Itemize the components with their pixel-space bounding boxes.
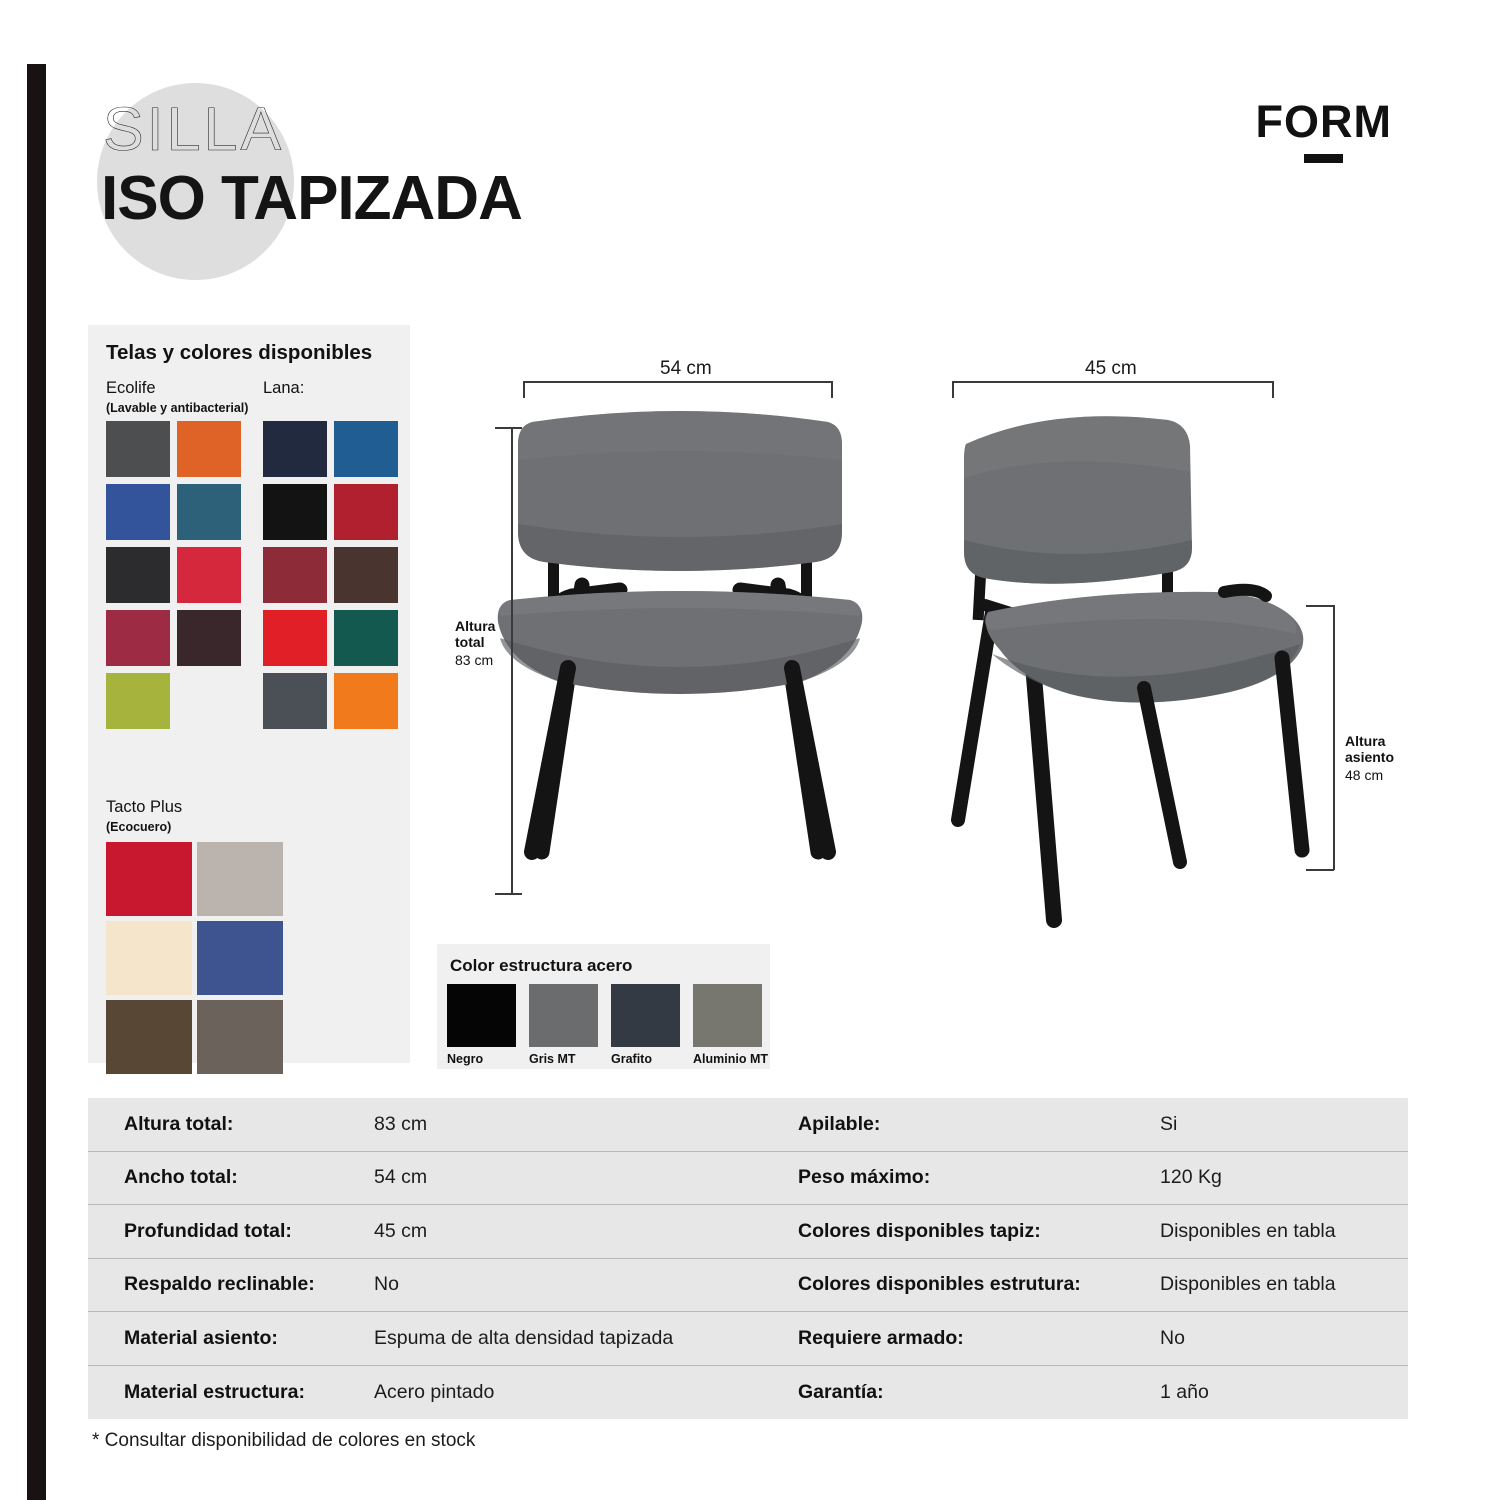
dimension-total-height-label-1: Altura bbox=[455, 618, 495, 635]
fabric-swatch bbox=[106, 547, 170, 603]
spec-cell-left: Material asiento:Espuma de alta densidad… bbox=[124, 1327, 784, 1350]
steel-color-label: Negro bbox=[447, 1052, 516, 1066]
brand-logo-underline bbox=[1304, 154, 1343, 163]
fabric-swatch bbox=[106, 842, 192, 916]
spec-key: Colores disponibles tapiz: bbox=[798, 1220, 1146, 1243]
spec-value: 54 cm bbox=[374, 1166, 427, 1189]
chair-angled-view-image bbox=[930, 400, 1330, 960]
steel-panel-title: Color estructura acero bbox=[450, 956, 632, 976]
steel-frame-colors-panel: Color estructura acero NegroGris MTGrafi… bbox=[437, 944, 770, 1069]
group-label-lana: Lana: bbox=[263, 379, 304, 398]
group-label-ecolife: Ecolife bbox=[106, 379, 156, 398]
group-subtitle-ecolife: (Lavable y antibacterial) bbox=[106, 401, 248, 415]
spec-value: Disponibles en tabla bbox=[1160, 1220, 1336, 1243]
stock-availability-note: * Consultar disponibilidad de colores en… bbox=[92, 1430, 475, 1452]
steel-color-chip bbox=[447, 984, 516, 1047]
specifications-table: Altura total:83 cmApilable:SiAncho total… bbox=[88, 1098, 1408, 1419]
brand-logo-text: FORM bbox=[1256, 99, 1392, 144]
fabric-swatch bbox=[106, 921, 192, 995]
steel-swatch-row: NegroGris MTGrafitoAluminio MT bbox=[447, 984, 762, 1066]
fabric-swatch bbox=[334, 484, 398, 540]
dimension-seat-height-tick-bottom bbox=[1306, 869, 1334, 871]
spec-cell-right: Requiere armado:No bbox=[798, 1327, 1185, 1350]
spec-cell-right: Apilable:Si bbox=[798, 1113, 1177, 1136]
dimension-depth-tick-right bbox=[1272, 381, 1274, 398]
dimension-width-line bbox=[523, 381, 833, 383]
fabric-swatch bbox=[177, 547, 241, 603]
fabric-swatch bbox=[334, 421, 398, 477]
fabric-swatch bbox=[106, 673, 170, 729]
steel-color-option: Grafito bbox=[611, 984, 680, 1066]
dimension-total-height-line bbox=[511, 427, 513, 894]
steel-color-label: Gris MT bbox=[529, 1052, 598, 1066]
spec-key: Peso máximo: bbox=[798, 1166, 1146, 1189]
spec-cell-right: Colores disponibles tapiz:Disponibles en… bbox=[798, 1220, 1336, 1243]
steel-color-chip bbox=[529, 984, 598, 1047]
dimension-depth-tick-left bbox=[952, 381, 954, 398]
spec-value: Acero pintado bbox=[374, 1381, 494, 1404]
dimension-seat-height-label-2: asiento bbox=[1345, 749, 1394, 766]
fabric-swatch bbox=[263, 610, 327, 666]
spec-cell-right: Garantía:1 año bbox=[798, 1381, 1209, 1404]
fabric-swatch bbox=[334, 547, 398, 603]
left-accent-bar bbox=[27, 64, 46, 1500]
fabric-swatch bbox=[177, 673, 241, 729]
spec-cell-right: Peso máximo:120 Kg bbox=[798, 1166, 1222, 1189]
dimension-seat-height-value: 48 cm bbox=[1345, 767, 1383, 784]
fabric-swatch bbox=[263, 547, 327, 603]
spec-cell-left: Profundidad total:45 cm bbox=[124, 1220, 784, 1243]
fabric-swatch bbox=[334, 673, 398, 729]
spec-key: Altura total: bbox=[124, 1113, 356, 1136]
dimension-width-tick-left bbox=[523, 381, 525, 398]
fabric-swatch bbox=[106, 610, 170, 666]
fabric-swatch bbox=[106, 484, 170, 540]
spec-cell-left: Respaldo reclinable:No bbox=[124, 1273, 784, 1296]
fabric-swatch bbox=[106, 1000, 192, 1074]
spec-value: 45 cm bbox=[374, 1220, 427, 1243]
dimension-seat-height-label-1: Altura bbox=[1345, 733, 1385, 750]
table-row: Altura total:83 cmApilable:Si bbox=[88, 1098, 1408, 1152]
fabric-colors-panel: Telas y colores disponibles Ecolife (Lav… bbox=[88, 325, 410, 1063]
spec-key: Ancho total: bbox=[124, 1166, 356, 1189]
spec-key: Apilable: bbox=[798, 1113, 1146, 1136]
steel-color-label: Aluminio MT bbox=[693, 1052, 762, 1066]
fabric-swatch bbox=[263, 673, 327, 729]
dimension-width-tick-right bbox=[831, 381, 833, 398]
fabric-swatch bbox=[106, 421, 170, 477]
dimension-seat-height-line bbox=[1333, 605, 1335, 870]
dimension-front-width-text: 54 cm bbox=[660, 358, 712, 380]
fabric-panel-title: Telas y colores disponibles bbox=[106, 341, 372, 365]
dimension-total-height-tick-top bbox=[495, 427, 522, 429]
steel-color-label: Grafito bbox=[611, 1052, 680, 1066]
spec-cell-left: Material estructura:Acero pintado bbox=[124, 1381, 784, 1404]
spec-value: No bbox=[1160, 1327, 1185, 1350]
spec-value: Disponibles en tabla bbox=[1160, 1273, 1336, 1296]
table-row: Material estructura:Acero pintadoGarantí… bbox=[88, 1366, 1408, 1420]
fabric-swatch bbox=[177, 610, 241, 666]
spec-value: No bbox=[374, 1273, 399, 1296]
fabric-swatch bbox=[197, 921, 283, 995]
fabric-swatch bbox=[263, 484, 327, 540]
spec-cell-left: Altura total:83 cm bbox=[124, 1113, 784, 1136]
spec-cell-left: Ancho total:54 cm bbox=[124, 1166, 784, 1189]
spec-value: Espuma de alta densidad tapizada bbox=[374, 1327, 673, 1350]
spec-cell-right: Colores disponibles estrutura:Disponible… bbox=[798, 1273, 1336, 1296]
product-category-title: SILLA bbox=[103, 99, 284, 160]
spec-value: Si bbox=[1160, 1113, 1177, 1136]
fabric-swatch bbox=[177, 421, 241, 477]
spec-key: Colores disponibles estrutura: bbox=[798, 1273, 1146, 1296]
brand-logo: FORM bbox=[1256, 99, 1392, 163]
dimension-depth-line bbox=[952, 381, 1274, 383]
table-row: Profundidad total:45 cmColores disponibl… bbox=[88, 1205, 1408, 1259]
fabric-swatch bbox=[197, 842, 283, 916]
spec-key: Material asiento: bbox=[124, 1327, 356, 1350]
dimension-seat-height-tick-top bbox=[1306, 605, 1334, 607]
fabric-swatch bbox=[177, 484, 241, 540]
table-row: Ancho total:54 cmPeso máximo:120 Kg bbox=[88, 1152, 1408, 1206]
fabric-swatch bbox=[334, 610, 398, 666]
fabric-swatch bbox=[263, 421, 327, 477]
dimension-total-height-label-2: total bbox=[455, 634, 485, 651]
page-title: ISO TAPIZADA bbox=[101, 168, 522, 230]
steel-color-option: Aluminio MT bbox=[693, 984, 762, 1066]
group-label-tacto: Tacto Plus bbox=[106, 798, 182, 817]
swatch-grid-lana bbox=[263, 421, 398, 729]
fabric-swatch bbox=[197, 1000, 283, 1074]
steel-color-chip bbox=[611, 984, 680, 1047]
spec-value: 1 año bbox=[1160, 1381, 1209, 1404]
table-row: Respaldo reclinable:NoColores disponible… bbox=[88, 1259, 1408, 1313]
spec-key: Garantía: bbox=[798, 1381, 1146, 1404]
dimension-total-height-value: 83 cm bbox=[455, 652, 493, 669]
chair-front-view-image bbox=[470, 400, 890, 920]
spec-key: Profundidad total: bbox=[124, 1220, 356, 1243]
steel-color-option: Gris MT bbox=[529, 984, 598, 1066]
spec-value: 83 cm bbox=[374, 1113, 427, 1136]
spec-value: 120 Kg bbox=[1160, 1166, 1222, 1189]
table-row: Material asiento:Espuma de alta densidad… bbox=[88, 1312, 1408, 1366]
spec-key: Requiere armado: bbox=[798, 1327, 1146, 1350]
swatch-grid-tacto-plus bbox=[106, 842, 283, 1074]
steel-color-option: Negro bbox=[447, 984, 516, 1066]
group-subtitle-tacto: (Ecocuero) bbox=[106, 820, 171, 834]
spec-key: Respaldo reclinable: bbox=[124, 1273, 356, 1296]
steel-color-chip bbox=[693, 984, 762, 1047]
dimension-total-height-tick-bottom bbox=[495, 893, 522, 895]
spec-key: Material estructura: bbox=[124, 1381, 356, 1404]
dimension-side-depth-text: 45 cm bbox=[1085, 358, 1137, 380]
swatch-grid-ecolife bbox=[106, 421, 241, 729]
